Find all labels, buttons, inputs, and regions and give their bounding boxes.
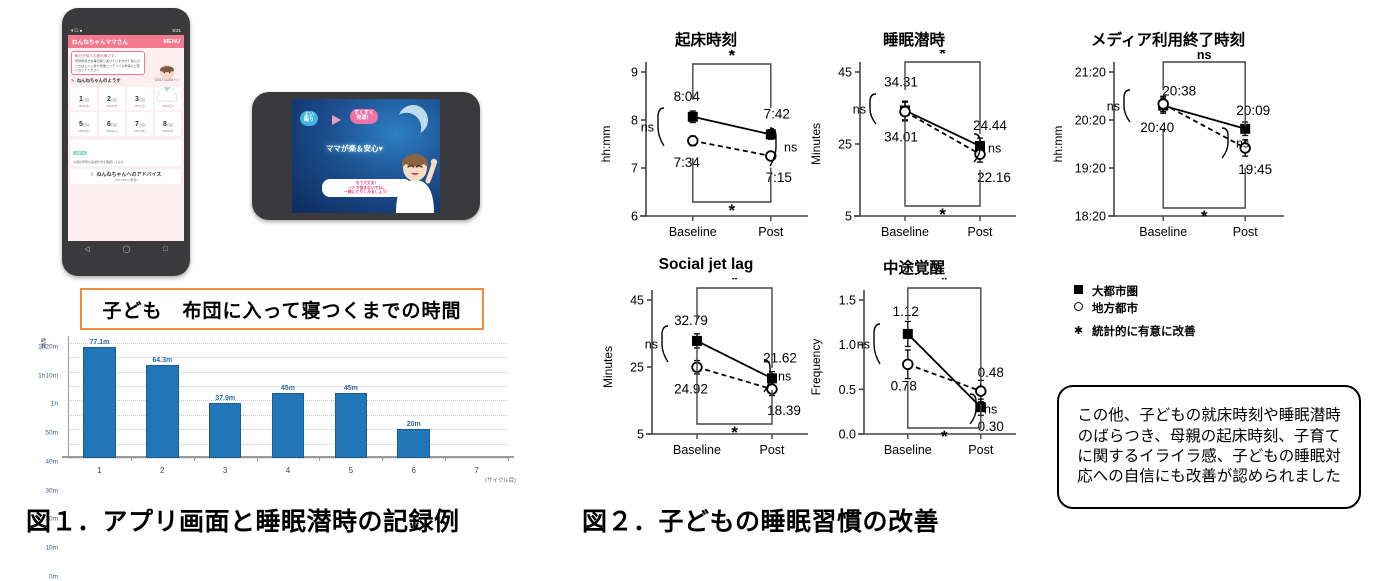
- x-axis-tick-label: Baseline: [884, 443, 932, 457]
- y-axis-tick-label: 1h20m: [38, 343, 58, 350]
- data-point-label: 22.16: [977, 170, 1011, 185]
- x-axis-tick-label: Post: [967, 225, 993, 239]
- asterisk-icon: ✱: [1072, 324, 1085, 340]
- y-axis-tick-label: 5: [845, 210, 852, 224]
- x-axis-tick-label: 1: [97, 466, 101, 475]
- y-axis-title: hh:mm: [1051, 126, 1065, 163]
- series-line-1: [693, 117, 771, 135]
- chart-title: 中途覚醒: [808, 256, 1020, 278]
- ns-label-left: ns: [853, 103, 866, 117]
- y-axis-tick-label: 5: [637, 428, 644, 442]
- x-axis-tick-label: Post: [758, 225, 784, 239]
- day-cell[interactable]: 3日目06/03(土): [127, 87, 153, 111]
- x-axis-tick-label: Post: [968, 443, 994, 457]
- marker-filled-square: [692, 336, 702, 346]
- ns-label-right: ns: [988, 142, 1001, 156]
- brace-left: [658, 108, 664, 146]
- y-axis-tick-label: 45: [838, 66, 852, 80]
- ns-label-left: ns: [641, 121, 654, 135]
- bar-value-label: 45m: [281, 385, 295, 392]
- grid-line: 1h20m: [68, 343, 508, 344]
- significance-bracket-bottom: [908, 382, 981, 428]
- recents-nav-icon[interactable]: □: [163, 246, 167, 253]
- brace-left: [1124, 90, 1130, 122]
- y-axis-tick-label: 1h: [51, 401, 58, 408]
- phone1-status-bar: ▾ ☐ ● 9:21: [68, 26, 184, 35]
- x-axis-tick-label: 6: [411, 466, 415, 475]
- y-axis-tick-label: 25: [838, 138, 852, 152]
- y-axis-tick-label: 25: [630, 361, 644, 375]
- y-axis-tick-label: 18:20: [1075, 210, 1106, 224]
- x-axis-tick: [445, 456, 446, 461]
- brace-left: [870, 94, 876, 124]
- notice-tag: お知らせ: [73, 151, 87, 155]
- figure-1-caption: 図１．アプリ画面と睡眠潜時の記録例: [26, 502, 460, 538]
- data-point-label: 24.92: [674, 381, 708, 396]
- significance-marker-top: ns: [1197, 50, 1212, 62]
- back-nav-icon[interactable]: ◁: [84, 245, 89, 253]
- series-line-2: [697, 367, 772, 389]
- chart-plot-area: 45255MinutesBaselinePost32.7921.6224.921…: [600, 278, 812, 474]
- y-axis-tick-label: 45: [630, 294, 644, 308]
- ns-label-left: ns: [857, 338, 870, 352]
- significance-bracket-top: [693, 64, 771, 108]
- chart-plot-area: 45255MinutesBaselinePost34.3124.4434.012…: [808, 50, 1020, 256]
- data-point-label: 0.30: [978, 419, 1004, 434]
- data-point-label: 34.31: [884, 74, 918, 89]
- marker-filled-square: [903, 329, 913, 339]
- data-point-label: 24.44: [973, 118, 1007, 133]
- nurse-illustration-icon: [152, 63, 182, 103]
- status-left-icons: ▾ ☐ ●: [71, 28, 82, 34]
- legend-label: 地方都市: [1092, 301, 1138, 318]
- significance-marker-bottom: *: [941, 427, 948, 446]
- day-cell[interactable]: 5日目06/05(月): [71, 112, 97, 136]
- chart-title: Social jet lag: [600, 256, 812, 274]
- significance-bracket-bottom: [697, 346, 772, 424]
- y-axis-tick-label: 30m: [45, 487, 58, 494]
- significance-marker-top: *: [731, 278, 738, 289]
- x-axis-tick: [508, 456, 509, 461]
- series-line-2: [908, 364, 981, 391]
- phone2-screen: よい 眠り すくすく 発達！ ママが楽＆安心♥ もう大丈夫！ 一人で悩まないでね…: [292, 99, 440, 213]
- bar-value-label: 37.9m: [215, 395, 235, 402]
- menu-button[interactable]: MENU: [164, 39, 180, 45]
- brace-right: [1222, 128, 1228, 158]
- grid-line: 1h: [68, 372, 508, 373]
- y-axis-tick-label: 0m: [49, 574, 58, 581]
- y-axis-tick-label: 50m: [45, 430, 58, 437]
- day-cell[interactable]: 8日目06/08(木): [155, 112, 181, 136]
- y-axis-tick-label: 0.5: [839, 383, 856, 397]
- callout-box-additional-findings: この他、子どもの就床時刻や睡眠潜時のばらつき、母親の起床時刻、子育てに関するイラ…: [1057, 385, 1361, 509]
- y-axis-title: Minutes: [601, 346, 615, 388]
- y-axis-tick-label: 10m: [45, 545, 58, 552]
- y-axis-tick-label: 1h10m: [38, 372, 58, 379]
- marker-open-circle: [900, 107, 910, 117]
- x-axis-tick-label: 5: [349, 466, 353, 475]
- brace-left: [874, 324, 880, 364]
- advice-title: ☾ ねんねちゃんへのアドバイス: [73, 171, 179, 178]
- advice-updated: (2017/06/13更新): [73, 178, 179, 182]
- phone1-screen: ▾ ☐ ● 9:21 ねんねちゃんママさん MENU 毎日子育てお疲れ様です♪ …: [68, 26, 184, 241]
- x-axis-tick-label: 3: [223, 466, 227, 475]
- marker-open-circle: [688, 136, 698, 146]
- x-axis-tick-label: Post: [759, 443, 785, 457]
- bar: [146, 365, 179, 458]
- x-axis-tick: [257, 456, 258, 461]
- y-axis-tick-label: 40m: [45, 458, 58, 465]
- marker-open-circle: [976, 386, 986, 396]
- legend-label: 大都市圏: [1092, 284, 1138, 301]
- home-nav-icon[interactable]: ◯: [123, 245, 131, 253]
- crescent-moon-icon: [394, 101, 432, 139]
- data-point-label: 20:09: [1236, 103, 1270, 118]
- greeting-text: 早寝早起きを毎日繰り返せていますか？悩んだときはヒント集や習慣コンテンツも参考に…: [75, 59, 141, 71]
- pill-healthy-growth: すくすく 発達！: [350, 109, 378, 124]
- significance-marker-bottom: *: [731, 423, 738, 442]
- y-axis-title: Minutes: [809, 123, 823, 165]
- bar-chart-y-axis: [68, 336, 69, 458]
- significance-marker-top: *: [728, 50, 735, 65]
- greeting-title: 毎日子育てお疲れ様です♪: [75, 54, 141, 58]
- bar: [335, 393, 368, 458]
- significance-bracket-bottom: [693, 158, 771, 202]
- line-chart-sleep-onset-latency: 睡眠潜時 45255MinutesBaselinePost34.3124.443…: [808, 28, 1020, 256]
- data-point-label: 20:40: [1140, 120, 1174, 135]
- marker-open-circle: [903, 360, 913, 370]
- x-axis-tick-label: 2: [160, 466, 164, 475]
- data-point-label: 21.62: [763, 350, 797, 365]
- data-point-label: 8:04: [674, 89, 701, 104]
- y-axis-tick-label: 6: [631, 210, 638, 224]
- pencil-icon: ✎: [71, 78, 75, 84]
- callout-text: この他、子どもの就床時刻や睡眠潜時のばらつき、母親の起床時刻、子育てに関するイラ…: [1059, 406, 1359, 488]
- chart-plot-area: 1.51.00.50.0FrequencyBaselinePost1.120.3…: [808, 278, 1020, 474]
- x-axis-tick: [319, 456, 320, 461]
- y-axis-tick-label: 9: [631, 66, 638, 80]
- series-line-1: [697, 341, 772, 378]
- legend-item-significance: ✱ 統計的に有意に改善: [1072, 324, 1302, 341]
- bar-value-label: 45m: [344, 385, 358, 392]
- data-point-label: 20:38: [1162, 84, 1196, 99]
- filled-square-icon: [1072, 284, 1085, 300]
- y-axis-tick-label: 21:20: [1075, 66, 1106, 80]
- grid-line: 1h10m: [68, 357, 508, 358]
- advice-card[interactable]: ☾ ねんねちゃんへのアドバイス (2017/06/13更新): [71, 169, 181, 184]
- chart-title: 起床時刻: [600, 28, 812, 50]
- marker-filled-square: [688, 112, 698, 122]
- data-point-label: 7:34: [674, 155, 701, 170]
- x-axis-tick-label: 7: [474, 466, 478, 475]
- significance-marker-top: *: [941, 278, 948, 289]
- significance-marker-bottom: *: [728, 201, 735, 220]
- phone1-app-bar: ねんねちゃんママさん MENU: [68, 35, 184, 48]
- x-axis-tick-label: 4: [286, 466, 290, 475]
- y-axis-tick-label: 1.0: [839, 338, 856, 352]
- ns-label-right: ns: [984, 403, 997, 417]
- day-cell[interactable]: 2日目06/02(金): [99, 87, 125, 111]
- data-point-label: 0.78: [891, 378, 917, 393]
- bar-value-label: 64.3m: [152, 357, 172, 364]
- bar-chart-time-to-sleep: 子ども 布団に入って寝つくまでの時間 時間 (サイクル目) 1h20m1h10m…: [18, 284, 528, 484]
- series-line-2: [693, 141, 771, 156]
- legend-item-regional: 地方都市: [1072, 301, 1302, 318]
- day-cell[interactable]: 6日目06/06(火): [99, 112, 125, 136]
- legend-label: 統計的に有意に改善: [1092, 324, 1196, 341]
- y-axis-tick-label: 7: [631, 162, 638, 176]
- x-axis-tick-label: Baseline: [1139, 225, 1187, 239]
- line-chart-media-end-time: メディア利用終了時刻 21:2020:2019:2018:20hh:mmBase…: [1048, 28, 1288, 256]
- greeting-bubble: 毎日子育てお疲れ様です♪ 早寝早起きを毎日繰り返せていますか？悩んだときはヒント…: [71, 51, 145, 75]
- x-axis-tick: [382, 456, 383, 461]
- data-point-label: 0.48: [978, 365, 1004, 380]
- chart-title: 睡眠潜時: [808, 28, 1020, 50]
- nurse-character-icon: [392, 141, 438, 213]
- phone1-nav-bar: ◁ ◯ □: [68, 241, 184, 257]
- y-axis-tick-label: 1.5: [839, 294, 856, 308]
- phone-mockup-app-screen: ▾ ☐ ● 9:21 ねんねちゃんママさん MENU 毎日子育てお疲れ様です♪ …: [62, 8, 190, 276]
- ns-label-right: ns: [784, 141, 797, 155]
- chart-plot-area: 21:2020:2019:2018:20hh:mmBaselinePost20:…: [1048, 50, 1288, 256]
- data-point-label: 7:42: [764, 106, 790, 121]
- notice-card[interactable]: お知らせ 今週の早寝の実施状況を確認してみる: [71, 139, 181, 166]
- significance-marker-bottom: *: [939, 205, 946, 224]
- y-axis-tick-label: 0.0: [839, 428, 856, 442]
- chart-legend: 大都市圏 地方都市 ✱ 統計的に有意に改善: [1072, 284, 1302, 341]
- ns-label-right: ns: [778, 370, 791, 384]
- figure-2-caption: 図２．子どもの睡眠習慣の改善: [582, 502, 939, 538]
- app-bar-title: ねんねちゃんママさん: [72, 38, 128, 46]
- bar-chart-plot-area: 時間 (サイクル目) 1h20m1h10m1h50m40m30m20m10m0m…: [68, 340, 508, 458]
- data-point-label: 1.12: [893, 304, 919, 319]
- y-axis-tick-label: 8: [631, 114, 638, 128]
- significance-marker-top: *: [939, 50, 946, 63]
- y-axis-tick-label: 20:20: [1075, 114, 1106, 128]
- bar-chart-x-unit-label: (サイクル目): [485, 476, 516, 484]
- brace-left: [662, 326, 668, 362]
- bar-chart-title: 子ども 布団に入って寝つくまでの時間: [80, 288, 484, 330]
- section-title: ねんねちゃんのようす: [77, 78, 121, 84]
- chart-title: メディア利用終了時刻: [1048, 28, 1288, 50]
- day-cell[interactable]: 1日目06/01(木): [71, 87, 97, 111]
- marker-open-circle: [1158, 99, 1168, 109]
- significance-marker-bottom: *: [1201, 207, 1208, 226]
- ns-label-left: ns: [1107, 100, 1120, 114]
- y-axis-title: hh:mm: [600, 126, 613, 163]
- bar: [397, 429, 430, 458]
- line-chart-night-waking: 中途覚醒 1.51.00.50.0FrequencyBaselinePost1.…: [808, 256, 1020, 471]
- arrow-right-icon: [332, 115, 341, 125]
- open-circle-icon: [1072, 301, 1085, 317]
- bar-value-label: 20m: [407, 421, 421, 428]
- bar: [209, 403, 242, 458]
- grid-line: 0m: [68, 458, 508, 459]
- phone1-content: 毎日子育てお疲れ様です♪ 早寝早起きを毎日繰り返せていますか？悩んだときはヒント…: [68, 48, 184, 241]
- data-point-label: 19:45: [1238, 162, 1272, 177]
- data-point-label: 7:15: [766, 170, 792, 185]
- ns-label-right: ns: [1236, 137, 1249, 151]
- phone-mockup-promo-screen: よい 眠り すくすく 発達！ ママが楽＆安心♥ もう大丈夫！ 一人で悩まないでね…: [252, 92, 480, 220]
- x-axis-tick-label: Baseline: [673, 443, 721, 457]
- pill-good-sleep: よい 眠り: [300, 111, 318, 126]
- bar-value-label: 77.1m: [89, 339, 109, 346]
- y-axis-title: Frequency: [809, 339, 823, 396]
- x-axis-tick-label: Baseline: [881, 225, 929, 239]
- significance-bracket-top: [905, 62, 980, 134]
- legend-item-metropolitan: 大都市圏: [1072, 284, 1302, 301]
- chart-plot-area: 9876hh:mmBaselinePost8:047:427:347:15**n…: [600, 50, 812, 256]
- bar: [83, 347, 116, 458]
- bar: [272, 393, 305, 458]
- x-axis-tick-label: Baseline: [669, 225, 717, 239]
- x-axis-tick: [131, 456, 132, 461]
- x-axis-tick: [194, 456, 195, 461]
- day-cell[interactable]: 7日目06/07(水): [127, 112, 153, 136]
- moon-icon: ☾: [91, 172, 95, 178]
- data-point-label: 34.01: [884, 130, 918, 145]
- line-chart-social-jet-lag: Social jet lag 45255MinutesBaselinePost3…: [600, 256, 812, 471]
- notice-text: 今週の早寝の実施状況を確認してみる: [73, 160, 179, 164]
- status-time: 9:21: [172, 28, 181, 33]
- significance-bracket-top: [697, 288, 772, 368]
- line-chart-wake-time: 起床時刻 9876hh:mmBaselinePost8:047:427:347:…: [600, 28, 812, 256]
- y-axis-tick-label: 19:20: [1075, 162, 1106, 176]
- series-line-1: [908, 334, 981, 407]
- ns-label-left: ns: [645, 338, 658, 352]
- data-point-label: 32.79: [674, 313, 708, 328]
- x-axis-tick-label: Post: [1233, 225, 1259, 239]
